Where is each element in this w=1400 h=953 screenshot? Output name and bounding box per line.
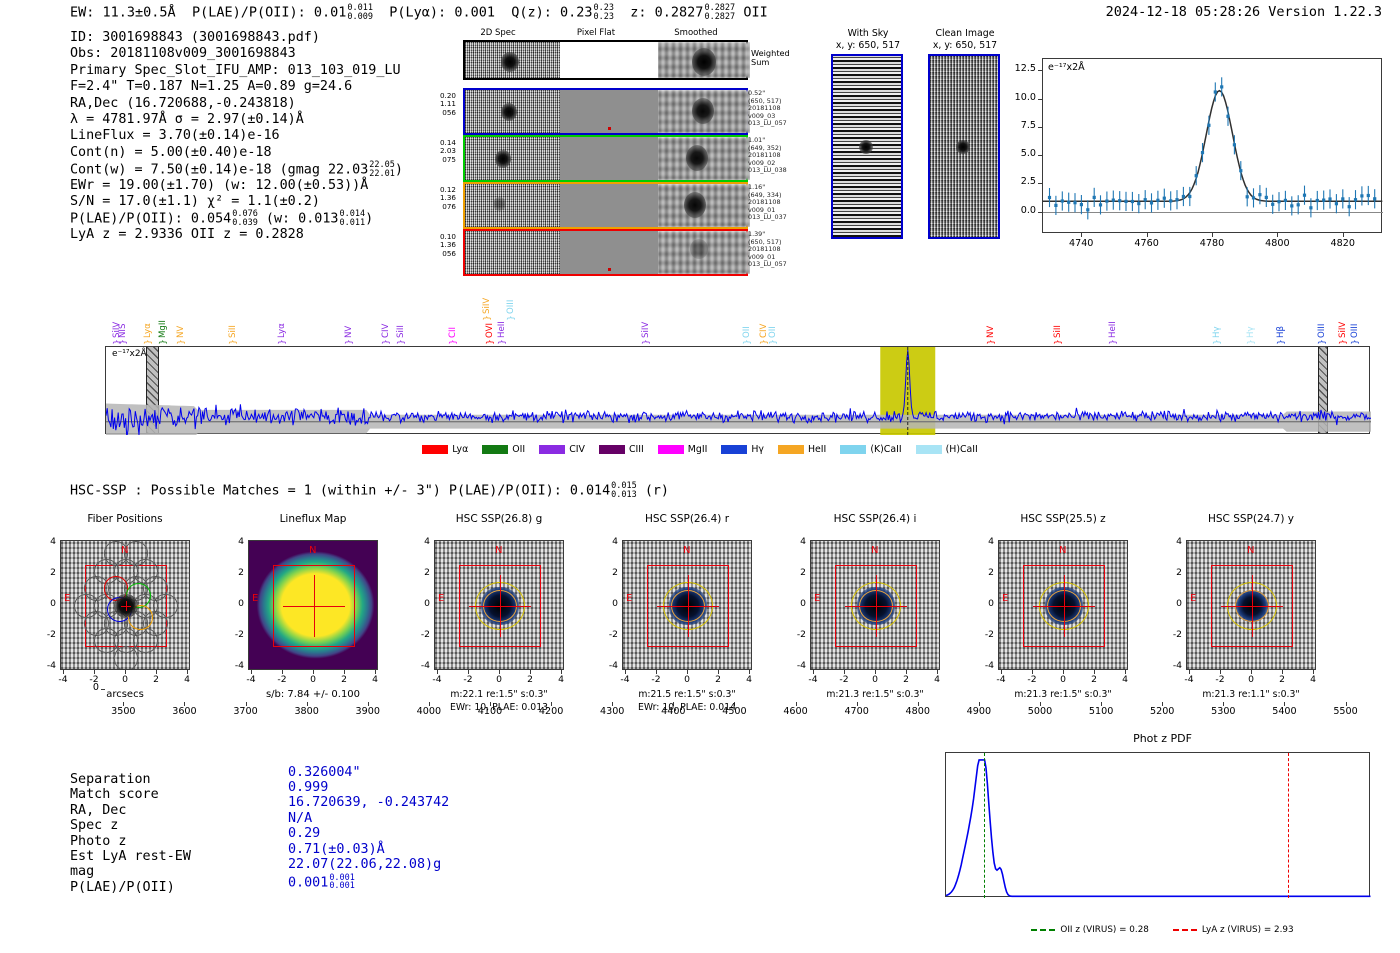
- panel-x-tick: -4: [1175, 674, 1203, 685]
- legend-item: CIV: [539, 444, 585, 455]
- panel-y-tick: -4: [972, 660, 994, 671]
- legend-swatch: [840, 445, 866, 454]
- info-plae: P(LAE)/P(OII): 0.0540.0760.039 (w: 0.013…: [70, 210, 403, 226]
- plae-error: 0.0110.009: [347, 4, 373, 21]
- panel-y-tick: 4: [408, 536, 430, 547]
- x-tick-label: 5300: [1199, 706, 1247, 717]
- x-tick: [796, 702, 797, 706]
- hsc-plae-error: 0.0150.013: [611, 482, 637, 499]
- full-spectrum-axes: e⁻¹⁷x2Å: [105, 346, 1370, 434]
- panel-x-tick-mark: [344, 670, 345, 674]
- panel-y-tick: -2: [222, 629, 244, 640]
- east-indicator: E: [626, 593, 632, 604]
- x-tick: [1101, 702, 1102, 706]
- x-tick: [1040, 702, 1041, 706]
- x-tick: [1081, 233, 1082, 237]
- with-sky-cutout: [831, 54, 903, 239]
- panel-xlabel: arcsecs: [35, 689, 215, 700]
- info-snr-chi2: S/N = 17.0(±1.1) χ² = 1.1(±0.2): [70, 194, 403, 210]
- panel-image[interactable]: [622, 540, 752, 670]
- info-spec-slot: Primary Spec_Slot_IFU_AMP: 013_103_019_L…: [70, 63, 403, 79]
- panel-y-tick: -2: [408, 629, 430, 640]
- spectrum-line-bracket: {: [741, 339, 751, 345]
- col-title-smoothed: Smoothed: [646, 28, 746, 38]
- panel-x-tick-mark: [156, 670, 157, 674]
- spectrum-line-label: SiII: [1053, 304, 1063, 338]
- photz-axes: [945, 752, 1370, 897]
- spectrum-line-label: NV: [176, 304, 186, 338]
- spectrum-line-bracket: {: [1052, 339, 1062, 345]
- legend-dash: [1031, 929, 1055, 931]
- spectrum-line-bracket: {: [1336, 339, 1346, 345]
- panel-x-tick-mark: [313, 670, 314, 674]
- legend-label: (K)CaII: [870, 444, 901, 455]
- x-tick: [123, 702, 124, 706]
- panel-x-tick-mark: [1001, 670, 1002, 674]
- spectrum-line-bracket: {: [175, 339, 185, 345]
- panel-y-tick: -2: [34, 629, 56, 640]
- panel-y-tick: 0: [222, 598, 244, 609]
- spectrum-line-label: OIII: [1350, 304, 1360, 338]
- qz-value: 0.23: [560, 5, 593, 21]
- panel-image[interactable]: [60, 540, 190, 670]
- plae-value: 0.01: [314, 5, 347, 21]
- spectrum-line-label: CIV: [381, 304, 391, 338]
- lineplot-canvas: [1043, 59, 1383, 234]
- panel-y-tick: 0: [408, 598, 430, 609]
- x-tick: [184, 702, 185, 706]
- spectrum-line-bracket: {: [395, 339, 405, 345]
- match-table-value: 0.71(±0.03)Å: [288, 842, 385, 857]
- panel-y-tick: 2: [972, 567, 994, 578]
- match-table-key: P(LAE)/P(OII): [70, 880, 175, 895]
- panel-y-tick: 4: [1160, 536, 1182, 547]
- panel-x-tick: 0: [1237, 674, 1265, 685]
- panel-image[interactable]: [434, 540, 564, 670]
- spectrum-line-bracket: {: [447, 339, 457, 345]
- east-indicator: E: [438, 593, 444, 604]
- x-tick: [918, 702, 919, 706]
- panel-x-tick-mark: [875, 670, 876, 674]
- legend-item: MgII: [658, 444, 708, 455]
- with-sky-title: With Sky x, y: 650, 517: [818, 28, 918, 51]
- legend-item: Lyα: [422, 444, 468, 455]
- legend-label: LyA z (VIRUS) = 2.93: [1202, 925, 1294, 935]
- panel-y-tick: -2: [972, 629, 994, 640]
- x-tick: [1212, 233, 1213, 237]
- panel-x-tick: 4: [1299, 674, 1327, 685]
- center-marker-v: [876, 575, 877, 637]
- panel-y-tick: -4: [34, 660, 56, 671]
- match-table-key: Est LyA rest-EW: [70, 849, 191, 864]
- panel-title: Fiber Positions: [40, 513, 210, 525]
- spectrum-line-bracket: {: [1316, 339, 1326, 345]
- panel-x-tick-mark: [1063, 670, 1064, 674]
- x-tick-label: 4760: [1123, 238, 1171, 249]
- match-table-value: 0.29: [288, 826, 320, 841]
- spectrum-line-label: SiII: [228, 304, 238, 338]
- x-tick: [1223, 702, 1224, 706]
- panel-x-tick: 4: [1111, 674, 1139, 685]
- center-marker-v: [314, 575, 315, 637]
- spectrum-line-label: NIS: [118, 304, 128, 338]
- col-title-2dspec: 2D Spec: [443, 28, 553, 38]
- panel-x-tick: 4: [173, 674, 201, 685]
- info-lineflux: LineFlux = 3.70(±0.14)e-16: [70, 128, 403, 144]
- legend-label: Hγ: [751, 444, 764, 455]
- panel-x-tick-mark: [749, 670, 750, 674]
- panel-x-tick: -4: [611, 674, 639, 685]
- match-table-value: N/A: [288, 811, 312, 826]
- hsc-match-text: HSC-SSP : Possible Matches = 1 (within +…: [70, 484, 610, 499]
- panel-x-tick-mark: [813, 670, 814, 674]
- x-tick-label: 5400: [1260, 706, 1308, 717]
- panel-x-tick: 0: [1049, 674, 1077, 685]
- panel-x-tick-mark: [125, 670, 126, 674]
- match-table-value: 16.720639, -0.243742: [288, 795, 449, 810]
- y-tick-label: 7.5: [998, 120, 1036, 131]
- center-marker-v: [126, 601, 127, 611]
- info-seeing: F=2.4" T=0.187 N=1.25 A=0.89 g=24.6: [70, 79, 403, 95]
- redshift-marker: [984, 753, 985, 898]
- qz-error: 0.230.23: [594, 4, 614, 21]
- panel-x-tick-mark: [625, 670, 626, 674]
- weighted-sum-label: Weighted Sum: [751, 49, 790, 68]
- panel-y-tick: -4: [408, 660, 430, 671]
- legend-item: CIII: [599, 444, 644, 455]
- spectrum-line-bracket: {: [985, 339, 995, 345]
- match-table-key: RA, Dec: [70, 803, 126, 818]
- spectrum-line-bracket: {: [343, 339, 353, 345]
- full-spectrum-section: SiIV{NIS{Lyα{MgII{NV{SiII{Lyα{NV{CIV{SiI…: [0, 268, 1400, 463]
- center-marker-v: [1252, 575, 1253, 637]
- panel-x-tick: -2: [1018, 674, 1046, 685]
- legend-swatch: [721, 445, 747, 454]
- panel-title: HSC SSP(25.5) z: [978, 513, 1148, 525]
- panel-title: HSC SSP(26.8) g: [414, 513, 584, 525]
- spectrum-line-bracket: {: [380, 339, 390, 345]
- x-tick-label: 4700: [833, 706, 881, 717]
- north-indicator: N: [121, 545, 128, 556]
- north-indicator: N: [871, 545, 878, 556]
- x-tick-label: 3900: [344, 706, 392, 717]
- spec2d-row-left-labels: 0.101.36056: [416, 233, 456, 258]
- panel-x-tick-mark: [1313, 670, 1314, 674]
- z-species: OII: [743, 5, 767, 21]
- panel-y-tick: -4: [784, 660, 806, 671]
- spectrum-line-bracket: {: [1211, 339, 1221, 345]
- legend-label: HeII: [808, 444, 826, 455]
- panel-y-tick: 0: [34, 598, 56, 609]
- panel-y-tick: 4: [34, 536, 56, 547]
- redshift-marker: [1288, 753, 1289, 898]
- north-indicator: N: [683, 545, 690, 556]
- panel-y-tick: 2: [1160, 567, 1182, 578]
- plya-value: 0.001: [454, 5, 495, 21]
- y-tick-label: 5.0: [998, 148, 1036, 159]
- panel-x-tick-mark: [530, 670, 531, 674]
- panel-x-tick-mark: [282, 670, 283, 674]
- center-marker-v: [500, 575, 501, 637]
- panel-x-tick: -4: [423, 674, 451, 685]
- x-tick-label: 3800: [283, 706, 331, 717]
- match-table-key: Match score: [70, 787, 159, 802]
- spectrum-line-label: MgII: [158, 304, 168, 338]
- east-indicator: E: [1002, 593, 1008, 604]
- panel-x-tick: 4: [547, 674, 575, 685]
- info-cont-n: Cont(n) = 5.00(±0.40)e-18: [70, 145, 403, 161]
- spectrum-line-label: HeII: [1108, 304, 1118, 338]
- x-tick-label: 4740: [1057, 238, 1105, 249]
- x-tick: [1284, 702, 1285, 706]
- panel-y-tick: 4: [222, 536, 244, 547]
- north-indicator: N: [1247, 545, 1254, 556]
- legend-swatch: [482, 445, 508, 454]
- panel-x-tick: -4: [49, 674, 77, 685]
- spec2d-row: [463, 182, 748, 229]
- datestamp: 2024-12-18 05:28:26 Version 1.22.3: [1106, 4, 1382, 20]
- panel-x-tick-mark: [1094, 670, 1095, 674]
- panel-x-tick: 0: [299, 674, 327, 685]
- y-tick: [1038, 127, 1042, 128]
- x-tick-label: 4600: [772, 706, 820, 717]
- panel-x-tick: 2: [1268, 674, 1296, 685]
- spectrum-line-bracket: {: [1245, 339, 1255, 345]
- panel-x-tick: -2: [830, 674, 858, 685]
- y-tick: [1038, 155, 1042, 156]
- x-tick-label: 4820: [1319, 238, 1367, 249]
- legend-label: (H)CaII: [946, 444, 978, 455]
- legend-swatch: [599, 445, 625, 454]
- x-tick: [307, 702, 308, 706]
- z-label: z:: [630, 5, 646, 21]
- east-indicator: E: [64, 593, 70, 604]
- spectrum-line-label: OII: [742, 304, 752, 338]
- spectrum-line-bracket: {: [1349, 339, 1359, 345]
- info-plae-w-text: (w: 0.013: [266, 212, 339, 227]
- qz-label: Q(z):: [511, 5, 552, 21]
- spectrum-line-label: OII: [768, 304, 778, 338]
- spec2d-row-right-labels: 0.52"(650, 517)20181108v009_03013_LU_057: [748, 90, 806, 128]
- spectrum-line-bracket: {: [1107, 339, 1117, 345]
- panel-y-tick: 0: [784, 598, 806, 609]
- spectrum-line-label: SiIV: [641, 304, 651, 338]
- x-tick-label: 4800: [1253, 238, 1301, 249]
- spectrum-line-bracket: {: [484, 339, 494, 345]
- photz-legend-item: OII z (VIRUS) = 0.28: [1031, 925, 1148, 935]
- info-id: ID: 3001698843 (3001698843.pdf): [70, 30, 403, 46]
- x-tick-label: 4900: [955, 706, 1003, 717]
- photz-legend: OII z (VIRUS) = 0.28LyA z (VIRUS) = 2.93: [930, 925, 1395, 935]
- spec2d-row-left-labels: 0.142.03075: [416, 139, 456, 164]
- panel-x-tick-mark: [375, 670, 376, 674]
- panel-xlabel: s/b: 7.84 +/- 0.100: [223, 689, 403, 700]
- info-lambda-sigma: λ = 4781.97Å σ = 2.97(±0.14)Å: [70, 112, 403, 128]
- x-tick: [1162, 702, 1163, 706]
- legend-label: CIII: [629, 444, 644, 455]
- x-tick-label: 4780: [1188, 238, 1236, 249]
- y-tick: [1038, 183, 1042, 184]
- legend-swatch: [778, 445, 804, 454]
- x-tick: [857, 702, 858, 706]
- z-value: 0.2827: [655, 5, 704, 21]
- legend-item: HeII: [778, 444, 826, 455]
- panel-y-tick: -4: [222, 660, 244, 671]
- spec2d-row-left-labels: 0.121.36076: [416, 186, 456, 211]
- spectrum-line-bracket: {: [117, 339, 127, 345]
- spec2d-row-right-labels: 1.16"(649, 334)20181108v009_01013_LU_037: [748, 184, 806, 222]
- spectrum-line-label: NV: [344, 304, 354, 338]
- panel-x-tick: 0: [673, 674, 701, 685]
- x-tick: [979, 702, 980, 706]
- panel-y-tick: -2: [784, 629, 806, 640]
- x-tick-label: 5100: [1077, 706, 1125, 717]
- panel-y-tick: 4: [972, 536, 994, 547]
- info-cont-w-close: ): [395, 163, 403, 178]
- panel-x-tick-mark: [251, 670, 252, 674]
- legend-label: MgII: [688, 444, 708, 455]
- panel-x-tick: 2: [892, 674, 920, 685]
- spec2d-row-right-labels: 1.01"(649, 352)20181108v009_02013_LU_038: [748, 137, 806, 175]
- spectrum-line-bracket: {: [157, 339, 167, 345]
- panel-photometry-info: m:21.3 re:1.1" s:0.3": [1161, 689, 1341, 702]
- y-tick: [1038, 70, 1042, 71]
- panel-y-tick: -2: [1160, 629, 1182, 640]
- info-redshifts: LyA z = 2.9336 OII z = 0.2828: [70, 227, 403, 243]
- weighted-sum-row: [463, 40, 748, 80]
- spectrum-line-label: OVI: [485, 304, 495, 338]
- info-radec: RA,Dec (16.720688,-0.243818): [70, 96, 403, 112]
- panel-x-tick: -2: [1206, 674, 1234, 685]
- panel-x-tick-mark: [499, 670, 500, 674]
- x-tick-label: 5500: [1322, 706, 1370, 717]
- panel-image[interactable]: [248, 540, 378, 670]
- panel-x-tick-mark: [687, 670, 688, 674]
- legend-label: OII: [512, 444, 525, 455]
- panel-x-tick-mark: [1220, 670, 1221, 674]
- north-indicator: N: [1059, 545, 1066, 556]
- legend-label: Lyα: [452, 444, 468, 455]
- panel-x-tick: -2: [268, 674, 296, 685]
- spectrum-line-label: OIII: [506, 280, 516, 314]
- y-tick: [1038, 99, 1042, 100]
- spectrum-line-label: Hβ: [1276, 304, 1286, 338]
- spectrum-canvas: [106, 347, 1371, 435]
- y-tick-label: 2.5: [998, 176, 1036, 187]
- fullspec-flux-unit: e⁻¹⁷x2Å: [112, 349, 147, 359]
- panel-title: HSC SSP(26.4) r: [602, 513, 772, 525]
- photz-canvas: [946, 753, 1371, 898]
- x-tick: [1346, 702, 1347, 706]
- info-cont-w: Cont(w) = 7.50(±0.14)e-18 (gmag 22.0322.…: [70, 161, 403, 177]
- legend-item: Hγ: [721, 444, 764, 455]
- spec2d-row: [463, 88, 748, 135]
- panel-photometry-info: m:22.1 re:1.5" s:0.3"EWr: 10, PLAE: 0.01…: [409, 689, 589, 714]
- panel-x-tick: 2: [516, 674, 544, 685]
- panel-image[interactable]: [810, 540, 940, 670]
- summary-header-line: EW: 11.3±0.5Å P(LAE)/P(OII): 0.010.0110.…: [70, 4, 768, 21]
- spectrum-line-label: Lyα: [143, 304, 153, 338]
- panel-x-tick-mark: [718, 670, 719, 674]
- legend-swatch: [916, 445, 942, 454]
- photz-title: Phot z PDF: [930, 732, 1395, 745]
- panel-x-tick-mark: [1032, 670, 1033, 674]
- panel-y-tick: 2: [408, 567, 430, 578]
- spec2d-row: [463, 135, 748, 182]
- panel-title: HSC SSP(26.4) i: [790, 513, 960, 525]
- panel-photometry-info: m:21.3 re:1.5" s:0.3": [785, 689, 965, 702]
- legend-item: (H)CaII: [916, 444, 978, 455]
- panel-x-tick: 2: [704, 674, 732, 685]
- panel-x-tick: -2: [642, 674, 670, 685]
- panel-x-tick-mark: [468, 670, 469, 674]
- x-tick-label: 5200: [1138, 706, 1186, 717]
- plae-label: P(LAE)/P(OII):: [192, 5, 306, 21]
- panel-x-tick: 2: [1080, 674, 1108, 685]
- info-ewr: EWr = 19.00(±1.70) (w: 12.00(±0.53))Å: [70, 178, 403, 194]
- match-table-value: 22.07(22.06,22.08)g: [288, 857, 441, 872]
- panel-y-tick: 2: [784, 567, 806, 578]
- panel-x-tick-mark: [63, 670, 64, 674]
- match-plae-error: 0.0010.001: [329, 874, 355, 891]
- panel-x-tick-mark: [1189, 670, 1190, 674]
- panel-y-tick: 0: [972, 598, 994, 609]
- match-table-value: 0.0010.0010.001: [288, 874, 355, 891]
- spectrum-line-label: Lyα: [277, 304, 287, 338]
- east-indicator: E: [814, 593, 820, 604]
- legend-item: (K)CaII: [840, 444, 901, 455]
- panel-x-tick-mark: [187, 670, 188, 674]
- panel-image[interactable]: [1186, 540, 1316, 670]
- photz-pdf-section: Phot z PDF 0.00.51.01.52.02.53.03.5 OII …: [930, 730, 1395, 945]
- legend-label: OII z (VIRUS) = 0.28: [1060, 925, 1148, 935]
- panel-x-tick-mark: [437, 670, 438, 674]
- east-indicator: E: [1190, 593, 1196, 604]
- hsc-match-line: HSC-SSP : Possible Matches = 1 (within +…: [70, 482, 669, 499]
- panel-image[interactable]: [998, 540, 1128, 670]
- east-indicator: E: [252, 593, 258, 604]
- panel-x-tick: 4: [923, 674, 951, 685]
- spectrum-line-label: CII: [448, 304, 458, 338]
- panel-x-tick: 4: [735, 674, 763, 685]
- plya-label: P(Lyα):: [389, 5, 446, 21]
- north-indicator: N: [309, 545, 316, 556]
- panel-y-tick: 2: [222, 567, 244, 578]
- spectrum-line-label: SiIV: [1338, 304, 1348, 338]
- match-table-value: 0.999: [288, 780, 328, 795]
- match-table-key: Spec z: [70, 818, 118, 833]
- legend-swatch: [658, 445, 684, 454]
- legend-label: CIV: [569, 444, 585, 455]
- panel-x-tick: 2: [330, 674, 358, 685]
- x-tick: [1343, 233, 1344, 237]
- panel-x-tick: 2: [142, 674, 170, 685]
- legend-item: OII: [482, 444, 525, 455]
- panel-x-tick-mark: [561, 670, 562, 674]
- spectrum-line-label: OIII: [1317, 304, 1327, 338]
- spectrum-line-bracket: {: [227, 339, 237, 345]
- panel-x-tick: -2: [454, 674, 482, 685]
- panel-y-tick: 4: [784, 536, 806, 547]
- legend-swatch: [422, 445, 448, 454]
- panel-x-tick: 4: [361, 674, 389, 685]
- photz-legend-item: LyA z (VIRUS) = 2.93: [1173, 925, 1294, 935]
- panel-y-tick: -2: [596, 629, 618, 640]
- spec2d-montage: 2D Spec Pixel Flat Smoothed Weighted Sum…: [418, 28, 808, 263]
- panel-x-tick: 0: [111, 674, 139, 685]
- spectrum-line-label: Hγ: [1212, 304, 1222, 338]
- hsc-filter: (r): [645, 484, 669, 499]
